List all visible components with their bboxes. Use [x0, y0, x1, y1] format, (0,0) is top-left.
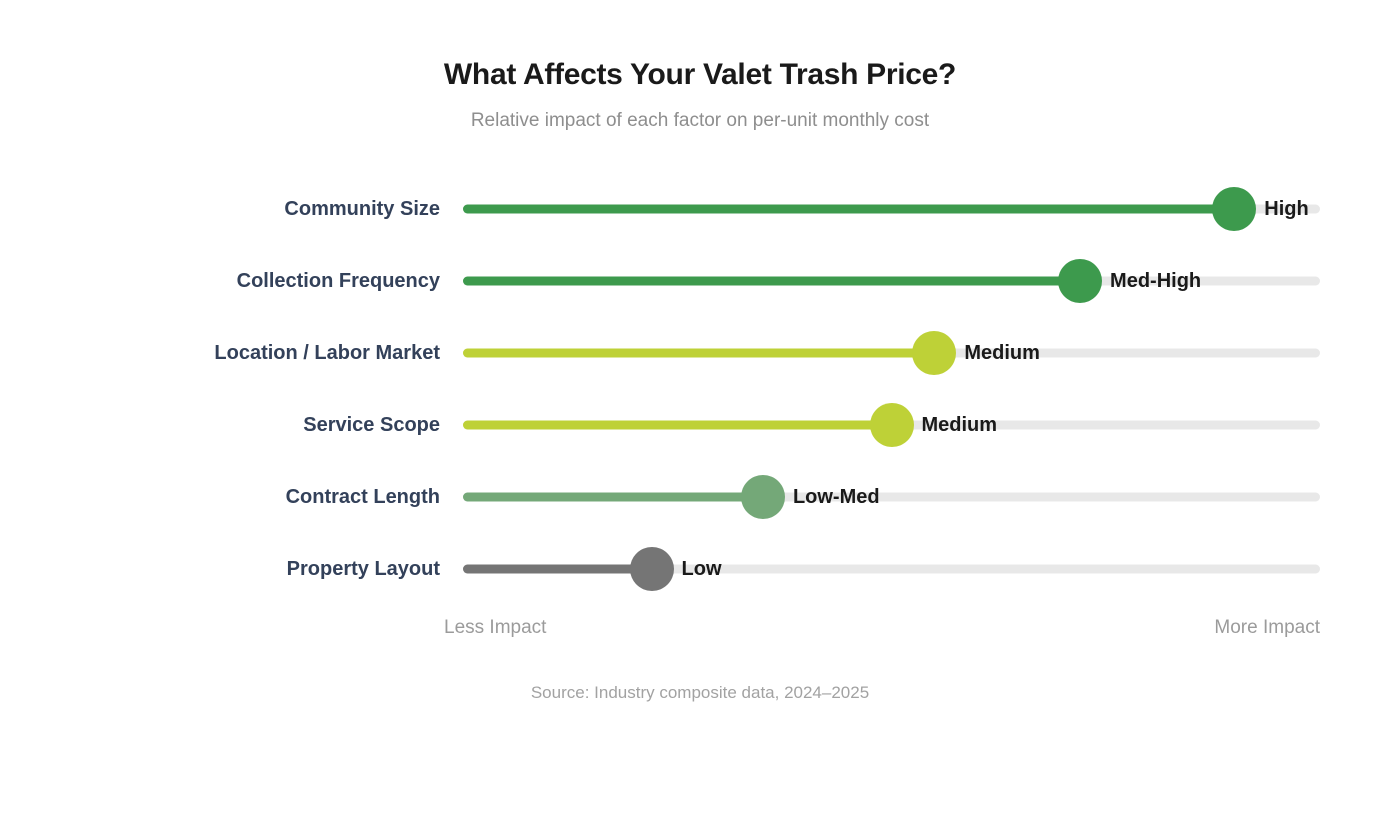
lollipop-row: Property LayoutLow [0, 546, 1400, 592]
lollipop-row: Community SizeHigh [0, 186, 1400, 232]
value-label: Medium [922, 415, 998, 435]
lollipop-row: Location / Labor MarketMedium [0, 330, 1400, 376]
value-label: High [1264, 199, 1308, 219]
row-category-label: Collection Frequency [0, 271, 440, 291]
row-category-label: Community Size [0, 199, 440, 219]
value-dot[interactable] [1058, 259, 1102, 303]
chart-title: What Affects Your Valet Trash Price? [0, 0, 1400, 90]
axis-hint-less-impact: Less Impact [444, 618, 546, 637]
lollipop-row: Collection FrequencyMed-High [0, 258, 1400, 304]
track-fill [463, 421, 892, 430]
row-category-label: Service Scope [0, 415, 440, 435]
chart-canvas: What Affects Your Valet Trash Price? Rel… [0, 0, 1400, 840]
value-dot[interactable] [1212, 187, 1256, 231]
lollipop-row: Service ScopeMedium [0, 402, 1400, 448]
value-dot[interactable] [741, 475, 785, 519]
track-fill [463, 205, 1234, 214]
track-fill [463, 349, 934, 358]
value-dot[interactable] [870, 403, 914, 447]
axis-hint-more-impact: More Impact [1214, 618, 1320, 637]
chart-header: What Affects Your Valet Trash Price? Rel… [0, 0, 1400, 130]
value-label: Med-High [1110, 271, 1201, 291]
row-category-label: Property Layout [0, 559, 440, 579]
track-fill [463, 565, 652, 574]
track-fill [463, 277, 1080, 286]
lollipop-row: Contract LengthLow-Med [0, 474, 1400, 520]
source-note: Source: Industry composite data, 2024–20… [0, 684, 1400, 701]
value-label: Low-Med [793, 487, 880, 507]
axis-hint-row: Less Impact More Impact [0, 618, 1400, 644]
value-dot[interactable] [912, 331, 956, 375]
track-fill [463, 493, 763, 502]
row-category-label: Location / Labor Market [0, 343, 440, 363]
value-label: Low [682, 559, 722, 579]
row-category-label: Contract Length [0, 487, 440, 507]
lollipop-plot-area: Community SizeHighCollection FrequencyMe… [0, 186, 1400, 606]
value-dot[interactable] [630, 547, 674, 591]
value-label: Medium [964, 343, 1040, 363]
chart-subtitle: Relative impact of each factor on per-un… [0, 90, 1400, 130]
